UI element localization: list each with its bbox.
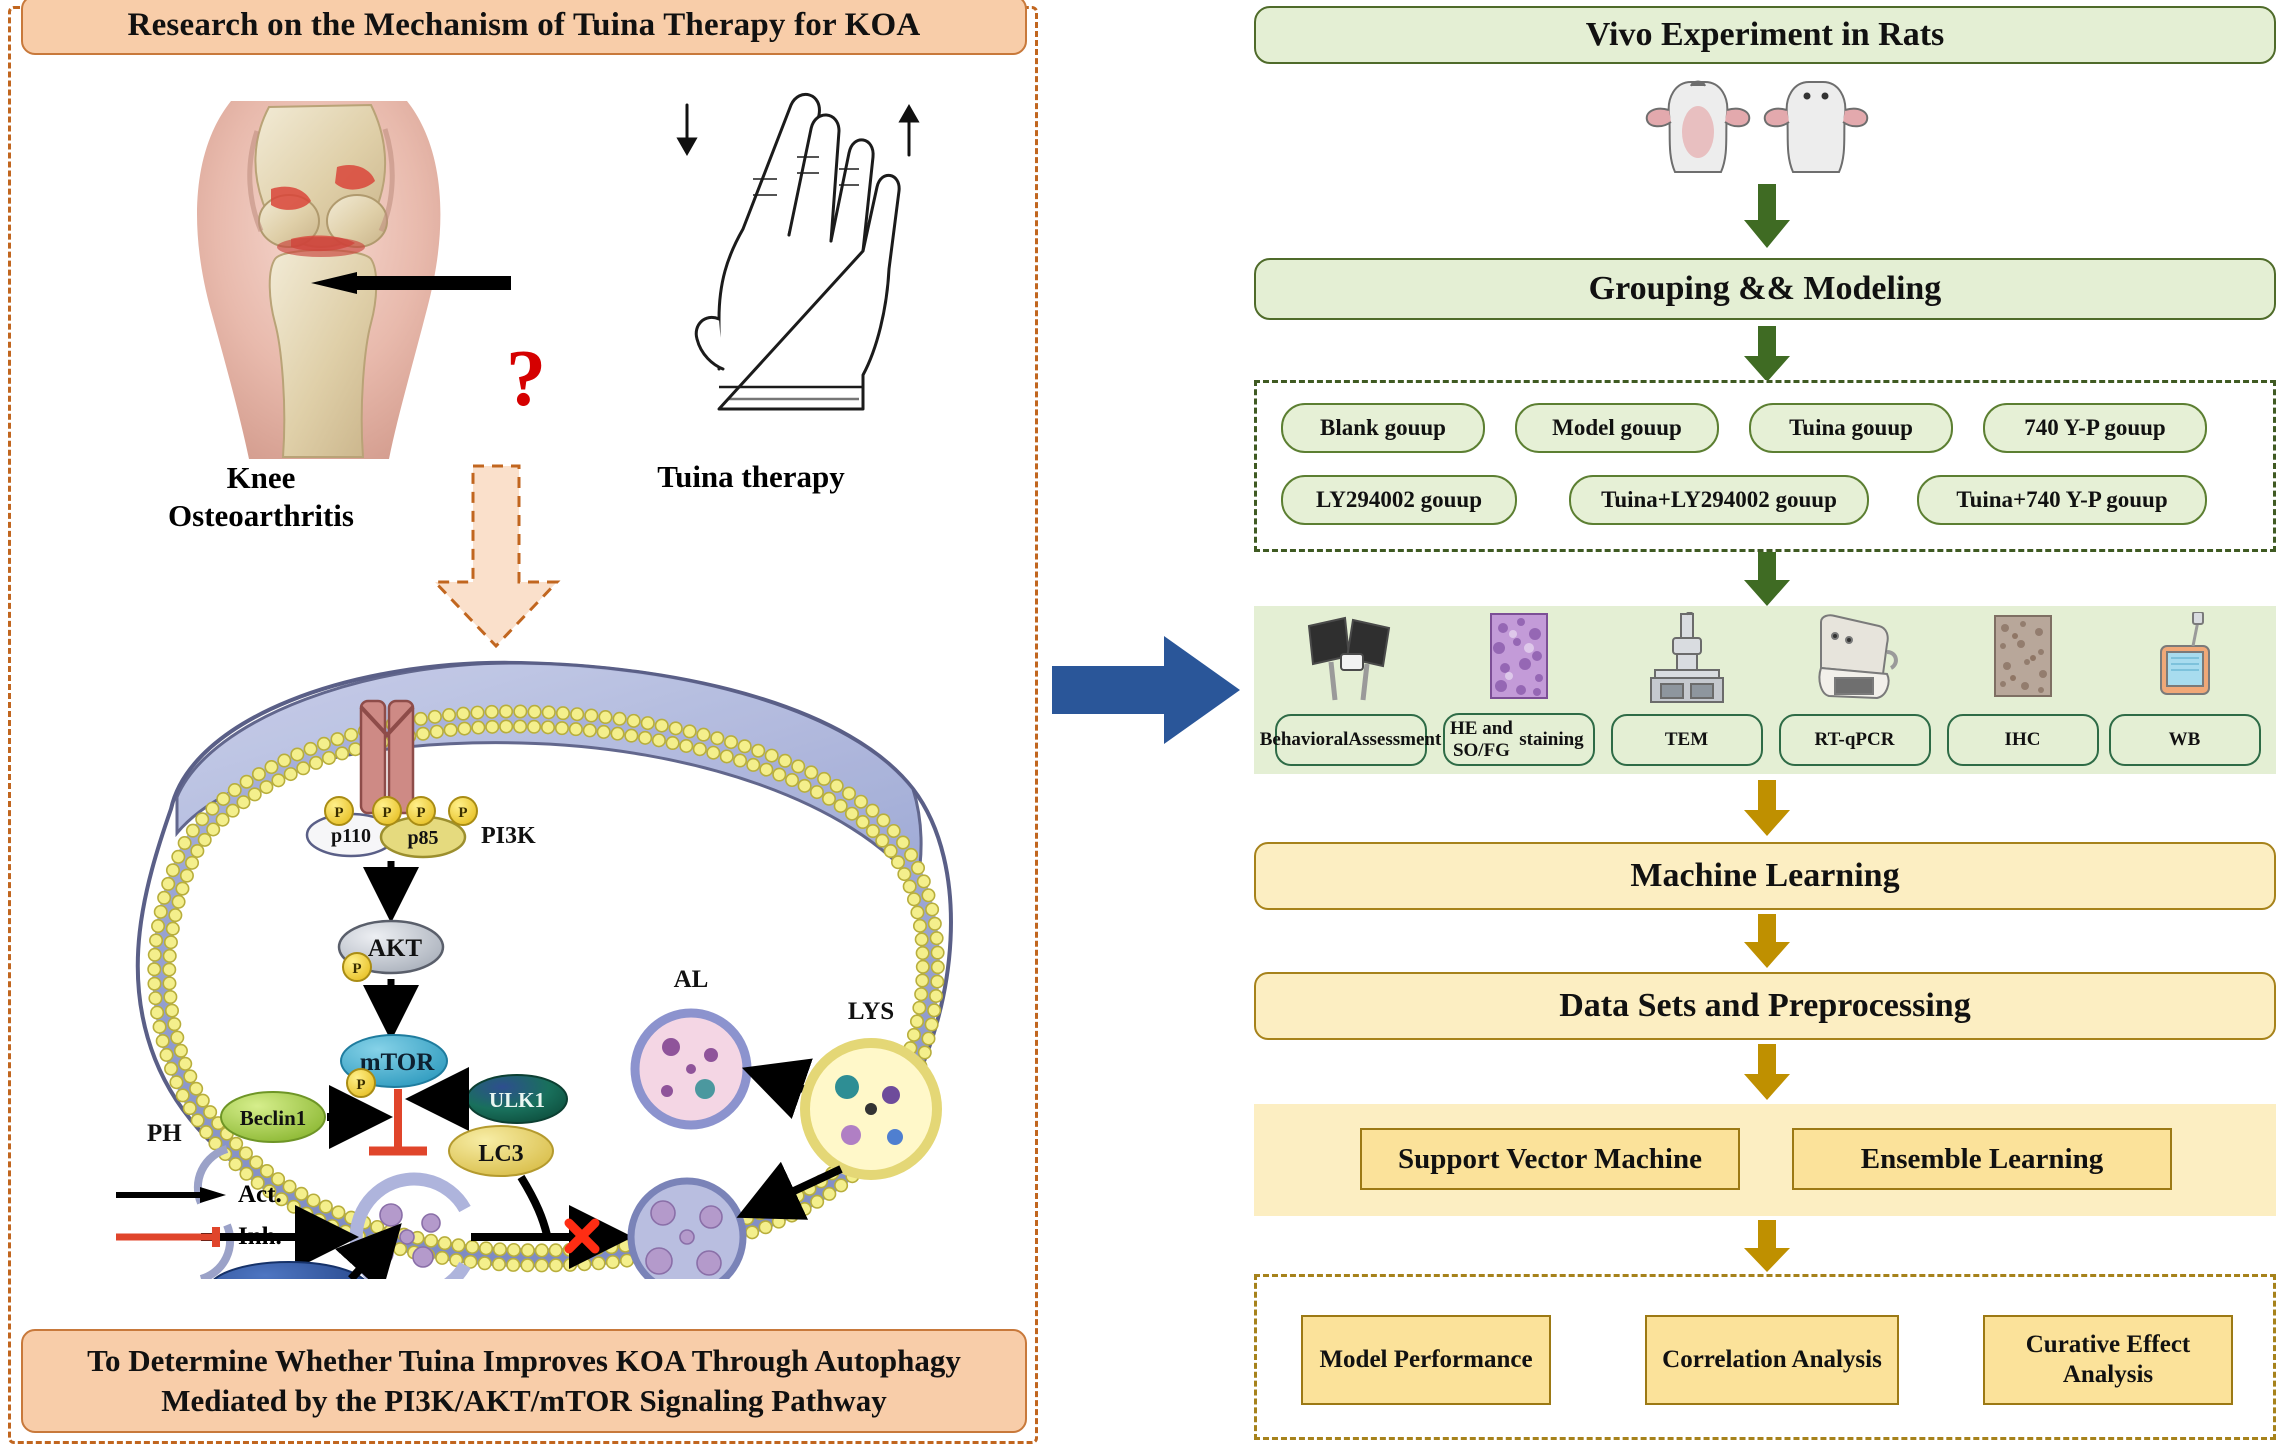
svg-text:P: P	[334, 805, 343, 821]
diagram-legend: Act. Inh.	[116, 1174, 346, 1258]
pcr-machine-icon	[1795, 612, 1915, 704]
method-pill-tem[interactable]: TEM	[1611, 714, 1763, 766]
legend-activation-row: Act.	[116, 1174, 346, 1216]
knee-osteoarthritis-label: Knee Osteoarthritis	[131, 459, 391, 535]
svg-text:p110: p110	[331, 825, 371, 847]
result-box-correlation-analysis[interactable]: Correlation Analysis	[1645, 1315, 1899, 1405]
method-label-line1: IHC	[2005, 729, 2041, 750]
method-label-line2: Assessment	[1348, 729, 1441, 750]
svg-text:P: P	[356, 1077, 365, 1093]
algorithm-box-ensemble[interactable]: Ensemble Learning	[1792, 1128, 2172, 1190]
vivo-experiment-header: Vivo Experiment in Rats	[1254, 6, 2276, 64]
data-sets-box: Data Sets and Preprocessing	[1254, 972, 2276, 1040]
method-pill-wb[interactable]: WB	[2109, 714, 2261, 766]
arrow-down-gold-1-icon	[1743, 780, 1791, 838]
left-panel: Research on the Mechanism of Tuina Thera…	[8, 6, 1038, 1444]
figure-root: Research on the Mechanism of Tuina Thera…	[0, 0, 2286, 1452]
arrow-down-green-3-icon	[1743, 552, 1791, 608]
svg-text:P: P	[352, 961, 361, 977]
result-box-model-performance[interactable]: Model Performance	[1301, 1315, 1551, 1405]
group-pill-blank[interactable]: Blank gouup	[1281, 403, 1485, 453]
method-pill-rtqpcr[interactable]: RT-qPCR	[1779, 714, 1931, 766]
arrow-down-green-2-icon	[1743, 326, 1791, 384]
legend-inhibition-row: Inh.	[116, 1216, 346, 1258]
electron-microscope-icon	[1627, 612, 1747, 704]
svg-text:P: P	[382, 805, 391, 821]
method-label-line2: staining	[1514, 729, 1588, 750]
method-cell-behavioral[interactable]: Behavioral Assessment	[1268, 606, 1433, 774]
svg-text:PH: PH	[147, 1120, 182, 1147]
svg-text:AKT: AKT	[368, 935, 423, 962]
svg-text:P: P	[458, 805, 467, 821]
group-pill-tuina-ly294002[interactable]: Tuina+LY294002 gouup	[1569, 475, 1869, 525]
methods-band: Behavioral Assessment	[1254, 606, 2276, 774]
method-label-line1: HE and SO/FG	[1449, 718, 1515, 761]
result-label-line1: Correlation Analysis	[1662, 1345, 1882, 1375]
method-label-line1: TEM	[1665, 729, 1708, 750]
group-pill-ly294002[interactable]: LY294002 gouup	[1281, 475, 1517, 525]
result-label-line1: Curative Effect	[2026, 1330, 2191, 1360]
result-box-curative-effect-analysis[interactable]: Curative Effect Analysis	[1983, 1315, 2233, 1405]
grouping-modeling-header: Grouping && Modeling	[1254, 258, 2276, 320]
arrow-down-gold-3-icon	[1743, 1044, 1791, 1102]
page-title: Research on the Mechanism of Tuina Thera…	[21, 0, 1027, 55]
svg-text:p85: p85	[407, 827, 438, 849]
arrow-down-green-1-icon	[1743, 184, 1791, 250]
group-pill-tuina[interactable]: Tuina gouup	[1749, 403, 1953, 453]
rats-image	[1613, 76, 1913, 176]
left-to-right-arrow-icon	[1052, 630, 1242, 750]
conclusion-banner: To Determine Whether Tuina Improves KOA …	[21, 1329, 1027, 1433]
arrow-down-gold-4-icon	[1743, 1220, 1791, 1274]
method-label-line1: RT-qPCR	[1815, 729, 1895, 750]
algorithm-box-svm[interactable]: Support Vector Machine	[1360, 1128, 1740, 1190]
svg-text:ULK1: ULK1	[489, 1088, 545, 1112]
svg-text:PI3K: PI3K	[481, 823, 536, 849]
method-cell-staining[interactable]: HE and SO/FG staining	[1436, 606, 1601, 774]
tuina-therapy-label: Tuina therapy	[571, 459, 931, 495]
inhibition-tbar-icon	[116, 1226, 226, 1248]
method-pill-behavioral[interactable]: Behavioral Assessment	[1275, 714, 1427, 766]
method-label-line1: WB	[2169, 729, 2201, 750]
histology-slide-icon	[1459, 612, 1579, 704]
right-panel: Vivo Experiment in Rats	[1248, 0, 2282, 1452]
method-cell-rtqpcr[interactable]: RT-qPCR	[1772, 606, 1937, 774]
group-pill-tuina-740yp[interactable]: Tuina+740 Y-P gouup	[1917, 475, 2207, 525]
method-pill-ihc[interactable]: IHC	[1947, 714, 2099, 766]
algorithms-band: Support Vector Machine Ensemble Learning	[1254, 1104, 2276, 1216]
ihc-slide-icon	[1963, 612, 2083, 704]
koa-label-line1: Knee	[131, 459, 391, 497]
method-cell-tem[interactable]: TEM	[1604, 606, 1769, 774]
svg-text:Beclin1: Beclin1	[240, 1106, 307, 1130]
result-label-line2: Analysis	[2063, 1360, 2153, 1390]
svg-text:LC3: LC3	[478, 1141, 523, 1167]
legend-inhibition-label: Inh.	[238, 1223, 282, 1251]
knee-osteoarthritis-image	[171, 71, 471, 461]
method-pill-staining[interactable]: HE and SO/FG staining	[1443, 713, 1595, 766]
svg-text:AL: AL	[674, 966, 709, 993]
result-label-line1: Model Performance	[1319, 1345, 1532, 1375]
activation-arrow-icon	[116, 1186, 226, 1204]
groups-container: Blank gouup Model gouup Tuina gouup 740 …	[1254, 380, 2276, 552]
group-pill-740yp[interactable]: 740 Y-P gouup	[1983, 403, 2207, 453]
behavior-test-icon	[1291, 612, 1411, 704]
results-container: Model Performance Correlation Analysis C…	[1254, 1274, 2276, 1440]
method-cell-wb[interactable]: WB	[2102, 606, 2267, 774]
method-cell-ihc[interactable]: IHC	[1940, 606, 2105, 774]
koa-label-line2: Osteoarthritis	[131, 497, 391, 535]
western-blot-icon	[2125, 612, 2245, 704]
group-pill-model[interactable]: Model gouup	[1515, 403, 1719, 453]
question-mark: ?	[506, 339, 546, 419]
machine-learning-box: Machine Learning	[1254, 842, 2276, 910]
svg-text:LYS: LYS	[848, 998, 894, 1025]
method-label-line1: Behavioral	[1260, 729, 1349, 750]
tuina-to-knee-arrow-icon	[311, 272, 511, 294]
svg-text:P: P	[416, 805, 425, 821]
arrow-down-gold-2-icon	[1743, 914, 1791, 970]
legend-activation-label: Act.	[238, 1181, 282, 1209]
tuina-hands-image	[601, 69, 931, 449]
